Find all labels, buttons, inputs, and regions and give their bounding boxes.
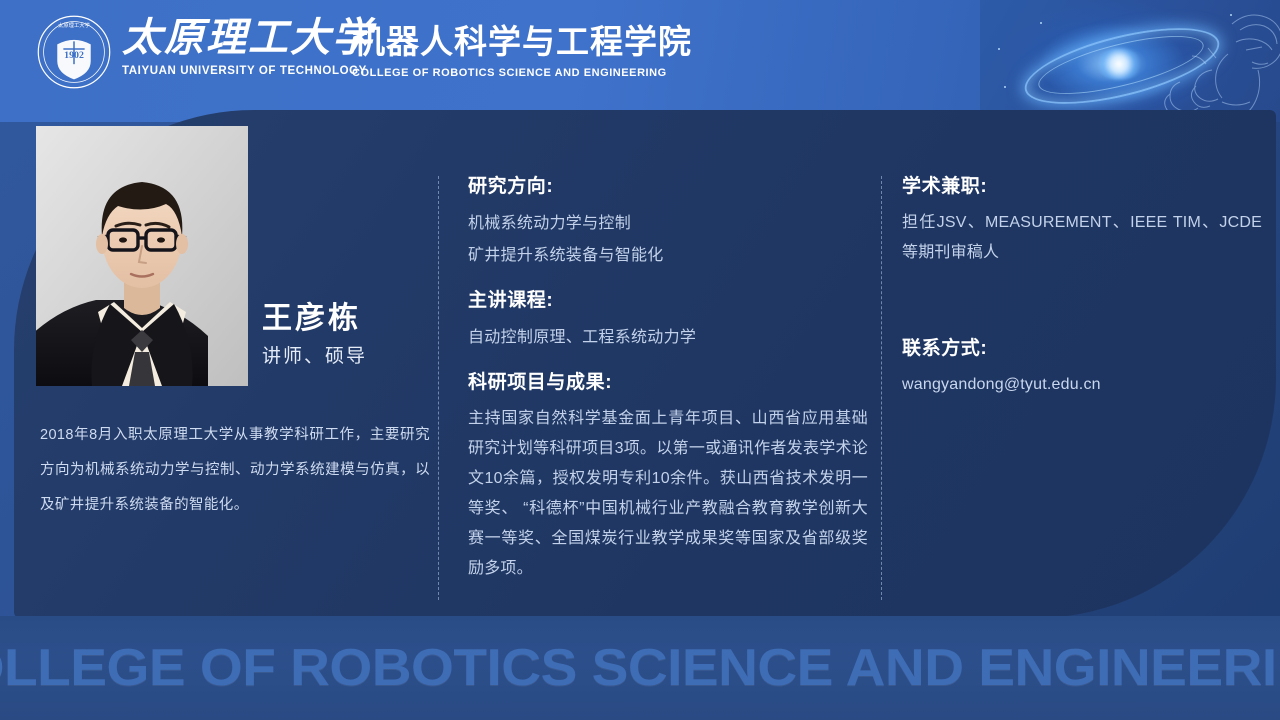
column-right: 学术兼职: 担任JSV、MEASUREMENT、IEEE TIM、JCDE等期刊… — [902, 172, 1262, 400]
college-name-en: COLLEGE OF ROBOTICS SCIENCE AND ENGINEER… — [352, 66, 692, 80]
person-bio: 2018年8月入职太原理工大学从事教学科研工作，主要研究方向为机械系统动力学与控… — [40, 418, 430, 523]
university-name-cn: 太原理工大学 — [122, 14, 374, 62]
spacer — [902, 268, 1262, 334]
footer-banner: COLLEGE OF ROBOTICS SCIENCE AND ENGINEER… — [0, 616, 1280, 720]
person-identity: 王彦栋 讲师、硕导 — [262, 300, 367, 372]
page-header: 1902 太原理工大学 太原理工大学 TAIYUAN UNIVERSITY OF… — [0, 0, 1280, 122]
svg-text:太原理工大学: 太原理工大学 — [58, 21, 91, 29]
person-name: 王彦栋 — [262, 300, 367, 338]
column-divider-right — [881, 176, 882, 600]
portrait-photo — [36, 126, 248, 386]
projects-body: 主持国家自然科学基金面上青年项目、山西省应用基础研究计划等科研项目3项。以第一或… — [468, 404, 868, 584]
contact-heading: 联系方式: — [902, 334, 1262, 364]
contact-email[interactable]: wangyandong@tyut.edu.cn — [902, 370, 1262, 400]
portrait-illustration — [36, 126, 248, 386]
college-title: 机器人科学与工程学院 COLLEGE OF ROBOTICS SCIENCE A… — [352, 22, 692, 80]
college-name-cn: 机器人科学与工程学院 — [352, 22, 692, 62]
university-name-en: TAIYUAN UNIVERSITY OF TECHNOLOGY — [122, 64, 374, 78]
courses-item: 自动控制原理、工程系统动力学 — [468, 322, 868, 354]
research-heading: 研究方向: — [468, 172, 868, 202]
courses-heading: 主讲课程: — [468, 286, 868, 316]
projects-heading: 科研项目与成果: — [468, 368, 868, 398]
university-logo: 1902 太原理工大学 太原理工大学 TAIYUAN UNIVERSITY OF… — [36, 14, 374, 90]
research-item: 矿井提升系统装备与智能化 — [468, 240, 868, 272]
research-item: 机械系统动力学与控制 — [468, 208, 868, 240]
column-middle: 研究方向: 机械系统动力学与控制 矿井提升系统装备与智能化 主讲课程: 自动控制… — [468, 172, 868, 584]
appointments-heading: 学术兼职: — [902, 172, 1262, 202]
svg-text:1902: 1902 — [64, 50, 84, 61]
appointments-body: 担任JSV、MEASUREMENT、IEEE TIM、JCDE等期刊审稿人 — [902, 208, 1262, 268]
footer-banner-text: COLLEGE OF ROBOTICS SCIENCE AND ENGINEER… — [0, 638, 1280, 698]
person-title: 讲师、硕导 — [262, 342, 367, 372]
university-seal-icon: 1902 太原理工大学 — [36, 14, 112, 90]
column-divider-left — [438, 176, 439, 600]
slide-canvas: 1902 太原理工大学 太原理工大学 TAIYUAN UNIVERSITY OF… — [0, 0, 1280, 720]
